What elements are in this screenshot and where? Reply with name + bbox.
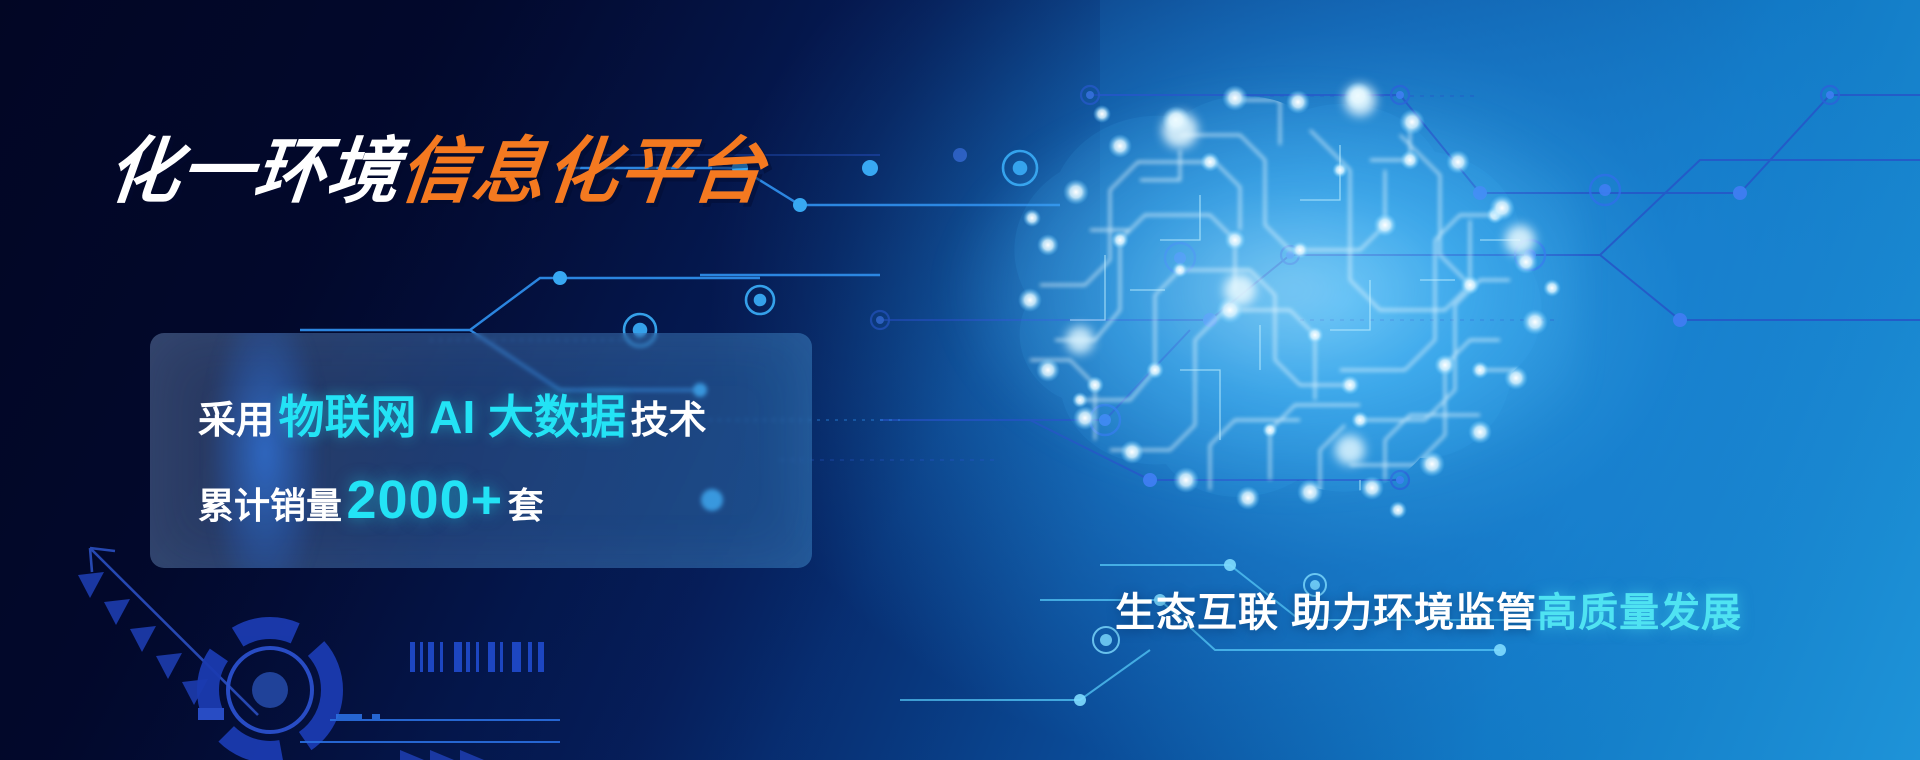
line1-suffix: 技术	[630, 400, 706, 442]
hero-banner: 化一环境信息化平台 采用 物联网 AI 大数据 技术 累计销量 2000+ 套 …	[0, 0, 1920, 760]
brain-glow	[940, 80, 1580, 500]
title-orange-part: 信息化平台	[396, 132, 769, 212]
diagonal-arrow-icon	[90, 548, 258, 715]
line1-prefix: 采用	[198, 400, 274, 442]
title-white-part: 化一环境	[104, 132, 404, 212]
card-line-sales: 累计销量 2000+ 套	[198, 469, 544, 531]
tagline-cyan-part: 高质量发展	[1537, 591, 1742, 635]
arrow-triangle-markers	[78, 572, 208, 705]
circuit-brain-graphic	[880, 40, 1640, 540]
page-title: 化一环境信息化平台	[104, 136, 769, 208]
line2-number: 2000+	[346, 470, 503, 530]
tagline-white-part: 生态互联 助力环境监管	[1115, 591, 1537, 635]
line1-highlight: 物联网 AI 大数据	[278, 391, 626, 443]
radar-target-icon	[198, 628, 332, 752]
line2-suffix: 套	[508, 485, 544, 526]
bottom-triangle-markers	[400, 750, 484, 760]
tagline: 生态互联 助力环境监管高质量发展	[1115, 580, 1742, 638]
highlight-card: 采用 物联网 AI 大数据 技术 累计销量 2000+ 套	[150, 333, 812, 568]
barcode-ornament	[410, 642, 544, 672]
card-line-technology: 采用 物联网 AI 大数据 技术	[198, 381, 707, 447]
line2-prefix: 累计销量	[198, 485, 342, 526]
